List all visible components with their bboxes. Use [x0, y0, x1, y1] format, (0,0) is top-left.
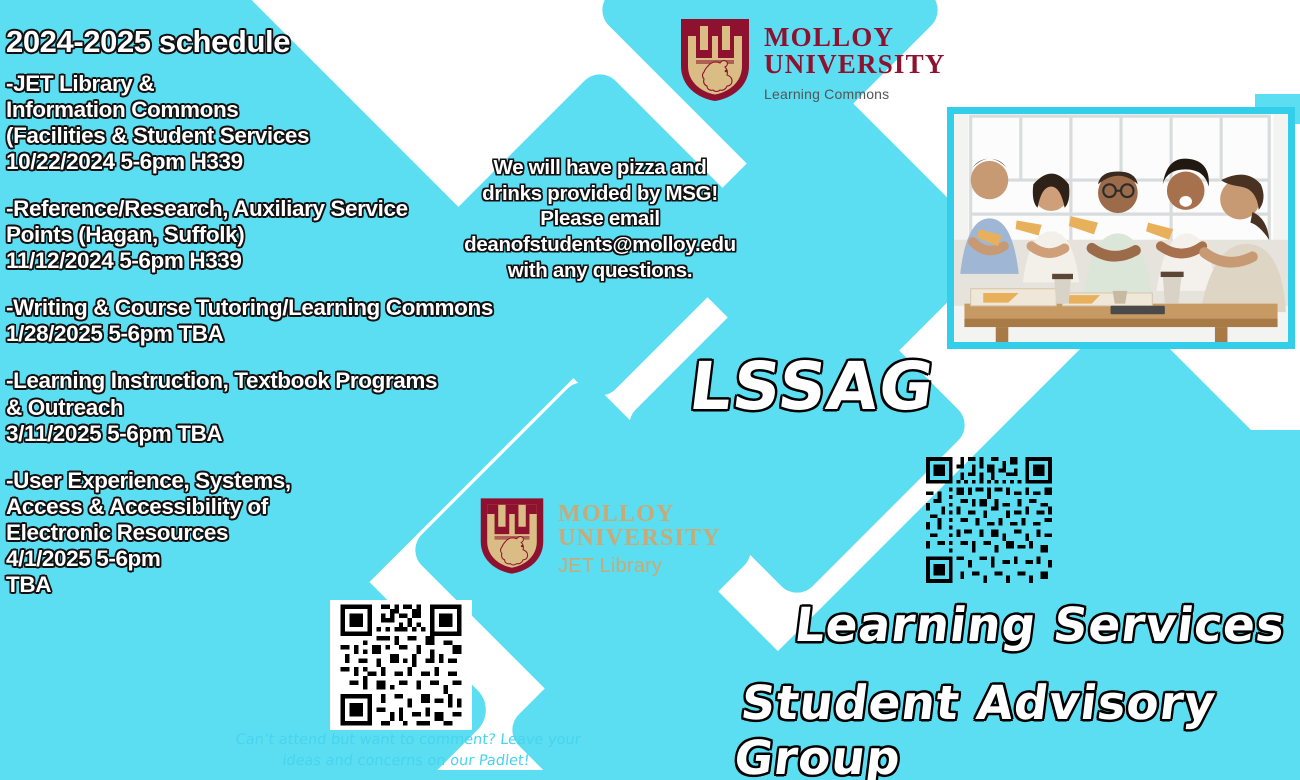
schedule-item-line: 3/11/2025 5-6pm TBA [6, 421, 526, 447]
molloy-shield-crest-icon [678, 16, 752, 109]
schedule-item-line: -Learning Instruction, Textbook Programs [6, 368, 526, 394]
logo-wordmark: MOLLOY UNIVERSITY Learning Commons [764, 24, 946, 101]
notice-line: We will have pizza and [450, 155, 750, 181]
schedule-item: -User Experience, Systems, Access & Acce… [6, 468, 526, 598]
schedule-item: -Learning Instruction, Textbook Programs… [6, 368, 526, 446]
event-notice: We will have pizza and drinks provided b… [450, 155, 750, 283]
schedule-item-line: -Writing & Course Tutoring/Learning Comm… [6, 295, 526, 321]
logo-name-line-1: MOLLOY [558, 502, 721, 526]
schedule-item-line: (Facilities & Student Services [6, 123, 526, 149]
schedule-item: -JET Library & Information Commons (Faci… [6, 71, 526, 175]
schedule-item-line: 4/1/2025 5-6pm [6, 546, 526, 572]
schedule-item-line: Electronic Resources [6, 520, 526, 546]
logo-subtitle: JET Library [558, 556, 721, 576]
schedule-item-line: Points (Hagan, Suffolk) [6, 222, 526, 248]
molloy-jet-library-logo: MOLLOY UNIVERSITY JET Library [478, 495, 721, 582]
schedule-panel: 2024-2025 schedule -JET Library & Inform… [6, 24, 526, 619]
schedule-title-line-1: 2024-2025 [6, 24, 151, 59]
logo-name-line-2: UNIVERSITY [558, 526, 721, 550]
padlet-note: Can’t attend but want to comment? Leave … [230, 730, 584, 772]
schedule-item-line: Access & Accessibility of [6, 494, 526, 520]
padlet-note-line-2: ideas and concerns on our Padlet! [230, 751, 582, 772]
schedule-title: 2024-2025 schedule [6, 24, 526, 61]
molloy-learning-commons-logo: MOLLOY UNIVERSITY Learning Commons [678, 16, 946, 109]
schedule-item-line: -User Experience, Systems, [6, 468, 526, 494]
schedule-item: -Reference/Research, Auxiliary Service P… [6, 196, 526, 274]
schedule-item-line: -Reference/Research, Auxiliary Service [6, 196, 526, 222]
lssag-qr-code[interactable] [925, 457, 1053, 583]
schedule-item: -Writing & Course Tutoring/Learning Comm… [6, 295, 526, 347]
logo-name-line-1: MOLLOY [764, 24, 946, 51]
poster-canvas: 2024-2025 schedule -JET Library & Inform… [0, 0, 1300, 780]
students-pizza-photo [947, 107, 1295, 349]
notice-email[interactable]: deanofstudents@molloy.edu [450, 232, 750, 258]
acronym-heading: LSSAG [685, 348, 939, 425]
schedule-item-line: & Outreach [6, 395, 526, 421]
schedule-item-line: 11/12/2024 5-6pm H339 [6, 248, 526, 274]
schedule-item-line: 1/28/2025 5-6pm TBA [6, 321, 526, 347]
notice-line: with any questions. [450, 258, 750, 284]
schedule-item-line: TBA [6, 572, 526, 598]
padlet-note-line-1: Can’t attend but want to comment? Leave … [232, 730, 584, 751]
logo-name-line-2: UNIVERSITY [764, 51, 946, 78]
logo-wordmark: MOLLOY UNIVERSITY JET Library [558, 502, 721, 576]
logo-subtitle: Learning Commons [764, 87, 946, 101]
schedule-item-line: 10/22/2024 5-6pm H339 [6, 149, 526, 175]
headline-line-2: Student Advisory Group [731, 676, 1300, 780]
notice-line: Please email [450, 206, 750, 232]
schedule-title-line-2: schedule [159, 24, 290, 59]
notice-line: drinks provided by MSG! [450, 181, 750, 207]
headline-line-1: Learning Services [792, 598, 1289, 653]
schedule-item-line: -JET Library & [6, 71, 526, 97]
padlet-qr-code[interactable] [330, 600, 472, 730]
molloy-shield-crest-icon [478, 495, 546, 582]
schedule-item-line: Information Commons [6, 97, 526, 123]
